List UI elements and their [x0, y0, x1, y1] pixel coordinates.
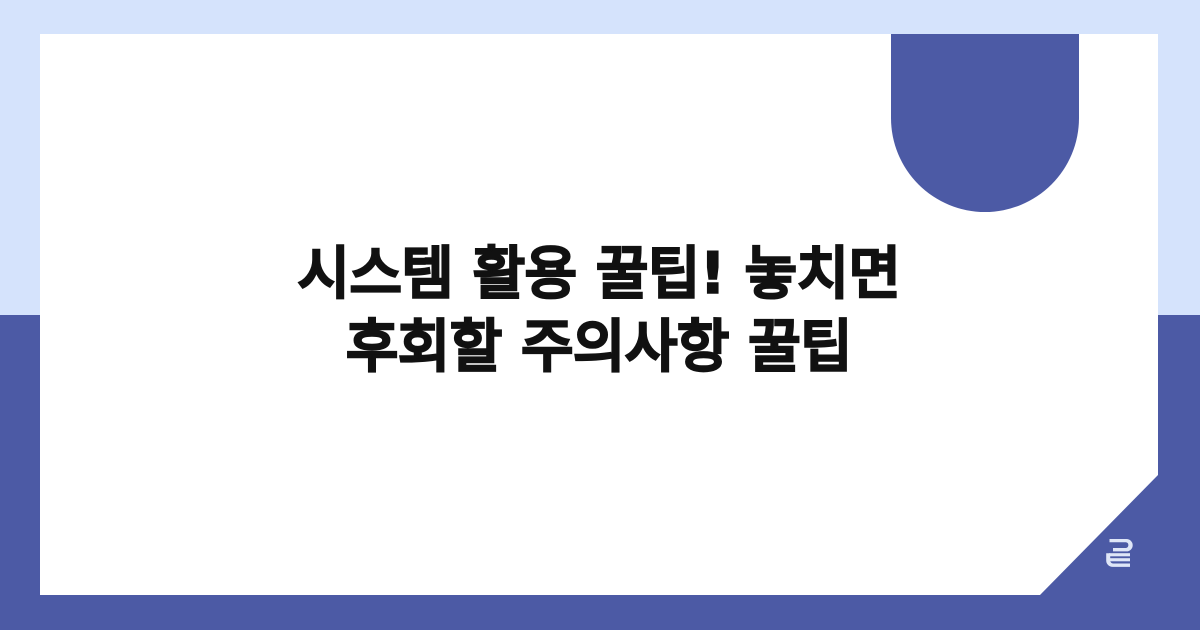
content-card: 시스템 활용 꿀팁! 놓치면 후회할 주의사항 꿀팁: [40, 34, 1158, 595]
page-title: 시스템 활용 꿀팁! 놓치면 후회할 주의사항 꿀팁: [219, 238, 979, 384]
title-container: 시스템 활용 꿀팁! 놓치면 후회할 주의사항 꿀팁: [40, 34, 1158, 595]
brand-rieul-logo-icon: [1100, 536, 1136, 570]
poster-canvas: 시스템 활용 꿀팁! 놓치면 후회할 주의사항 꿀팁: [0, 0, 1200, 630]
